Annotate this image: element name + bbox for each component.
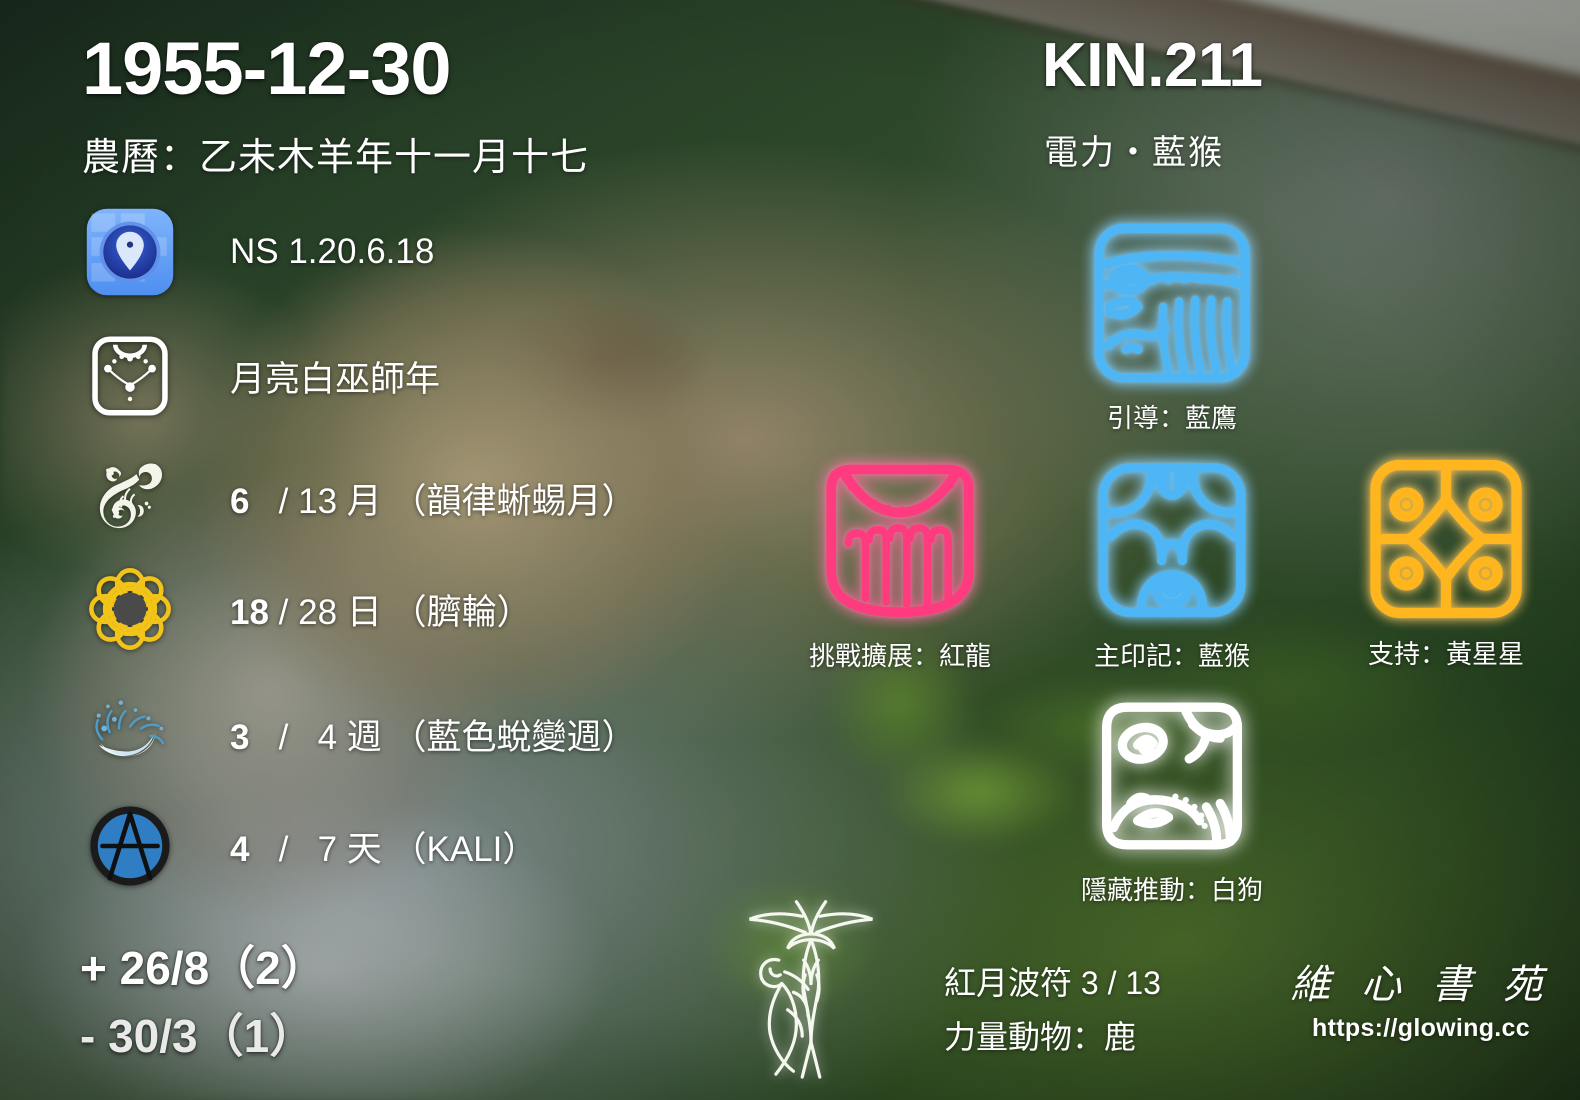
row-day-text: （臍輪） [392, 593, 532, 632]
glyph-main-caption: 主印記：藍猴 [1062, 636, 1282, 673]
blue-monkey-glyph-icon [1086, 450, 1258, 630]
power-animal-label: 力量動物：鹿 [944, 1012, 1136, 1058]
navel-chakra-icon [84, 563, 176, 655]
row-plasma-separator: / [279, 830, 289, 869]
row-year-label: 月亮白巫師年 [230, 351, 440, 402]
row-plasma-unit: 天 [347, 830, 382, 869]
row-week-value: 3 [230, 718, 249, 757]
row-month-total: 13 [298, 482, 337, 521]
glyph-guide-caption: 引導：藍鷹 [1062, 398, 1282, 435]
white-dog-glyph-icon [1086, 688, 1258, 864]
deer-power-animal-icon [736, 890, 886, 1080]
row-month-unit: 月 [347, 482, 382, 521]
row-week-unit: 週 [347, 718, 382, 757]
row-month-text: （韻律蜥蜴月） [392, 482, 637, 521]
row-day-label: 18 / 28 日 （臍輪） [230, 584, 532, 635]
row-week: 3 / 4 週 （藍色蛻變週） [84, 688, 637, 780]
counter-plus: + 26/8（2） [80, 932, 327, 998]
row-month-value: 6 [230, 482, 249, 521]
row-day-value: 18 [230, 593, 269, 632]
glyph-support-caption: 支持：黃星星 [1336, 634, 1556, 671]
row-plasma: 4 / 7 天 （KALI） [84, 800, 537, 892]
kali-plasma-icon [84, 800, 176, 892]
kin-subtitle: 電力・藍猴 [1044, 125, 1224, 174]
lunar-date-label: 農曆：乙未木羊年十一月十七 [82, 126, 589, 181]
gregorian-date: 1955-12-30 [82, 26, 451, 111]
kin-calendar-card: 1955-12-30 農曆：乙未木羊年十一月十七 KIN.211 電力・藍猴 [0, 0, 1580, 1100]
brand-watermark: 維 心 書 苑 https://glowing.cc [1286, 952, 1556, 1043]
glyph-analog: 挑戰擴展：紅龍 [790, 450, 1010, 673]
brand-url[interactable]: https://glowing.cc [1286, 1014, 1556, 1043]
row-day-separator: / [279, 593, 289, 632]
row-week-text: （藍色蛻變週） [392, 718, 637, 757]
row-day-unit: 日 [347, 593, 382, 632]
glyph-main: 主印記：藍猴 [1062, 450, 1282, 673]
row-plasma-text: （KALI） [392, 830, 538, 869]
row-month: 6 / 13 月 （韻律蜥蜴月） [84, 452, 637, 544]
row-ns: NS 1.20.6.18 [84, 206, 434, 298]
row-plasma-label: 4 / 7 天 （KALI） [230, 821, 537, 872]
row-ns-label: NS 1.20.6.18 [230, 232, 434, 272]
row-week-total: 4 [318, 718, 337, 757]
blue-eagle-glyph-icon [1082, 214, 1262, 392]
row-plasma-value: 4 [230, 830, 249, 869]
red-dragon-glyph-icon [814, 450, 986, 630]
row-week-label: 3 / 4 週 （藍色蛻變週） [230, 709, 637, 760]
glyph-analog-caption: 挑戰擴展：紅龍 [790, 636, 1010, 673]
brand-name: 維 心 書 苑 [1286, 952, 1556, 1010]
wizard-glyph-icon [84, 330, 176, 422]
kin-number: KIN.211 [1042, 30, 1263, 101]
row-month-separator: / [279, 482, 289, 521]
glyph-guide: 引導：藍鷹 [1062, 214, 1282, 435]
yellow-star-glyph-icon [1360, 450, 1532, 628]
water-splash-icon [84, 688, 176, 780]
location-pin-icon [84, 206, 176, 298]
glyph-hidden-caption: 隱藏推動：白狗 [1062, 870, 1282, 907]
row-day-total: 28 [298, 593, 337, 632]
row-day: 18 / 28 日 （臍輪） [84, 563, 532, 655]
row-plasma-total: 7 [318, 830, 337, 869]
row-week-separator: / [279, 718, 289, 757]
wavespell-label: 紅月波符 3 / 13 [944, 958, 1161, 1004]
glyph-support: 支持：黃星星 [1336, 450, 1556, 671]
row-month-label: 6 / 13 月 （韻律蜥蜴月） [230, 473, 637, 524]
row-year: 月亮白巫師年 [84, 330, 440, 422]
counter-minus: - 30/3（1） [80, 1000, 315, 1066]
glyph-hidden: 隱藏推動：白狗 [1062, 688, 1282, 907]
lizard-icon [84, 452, 176, 544]
